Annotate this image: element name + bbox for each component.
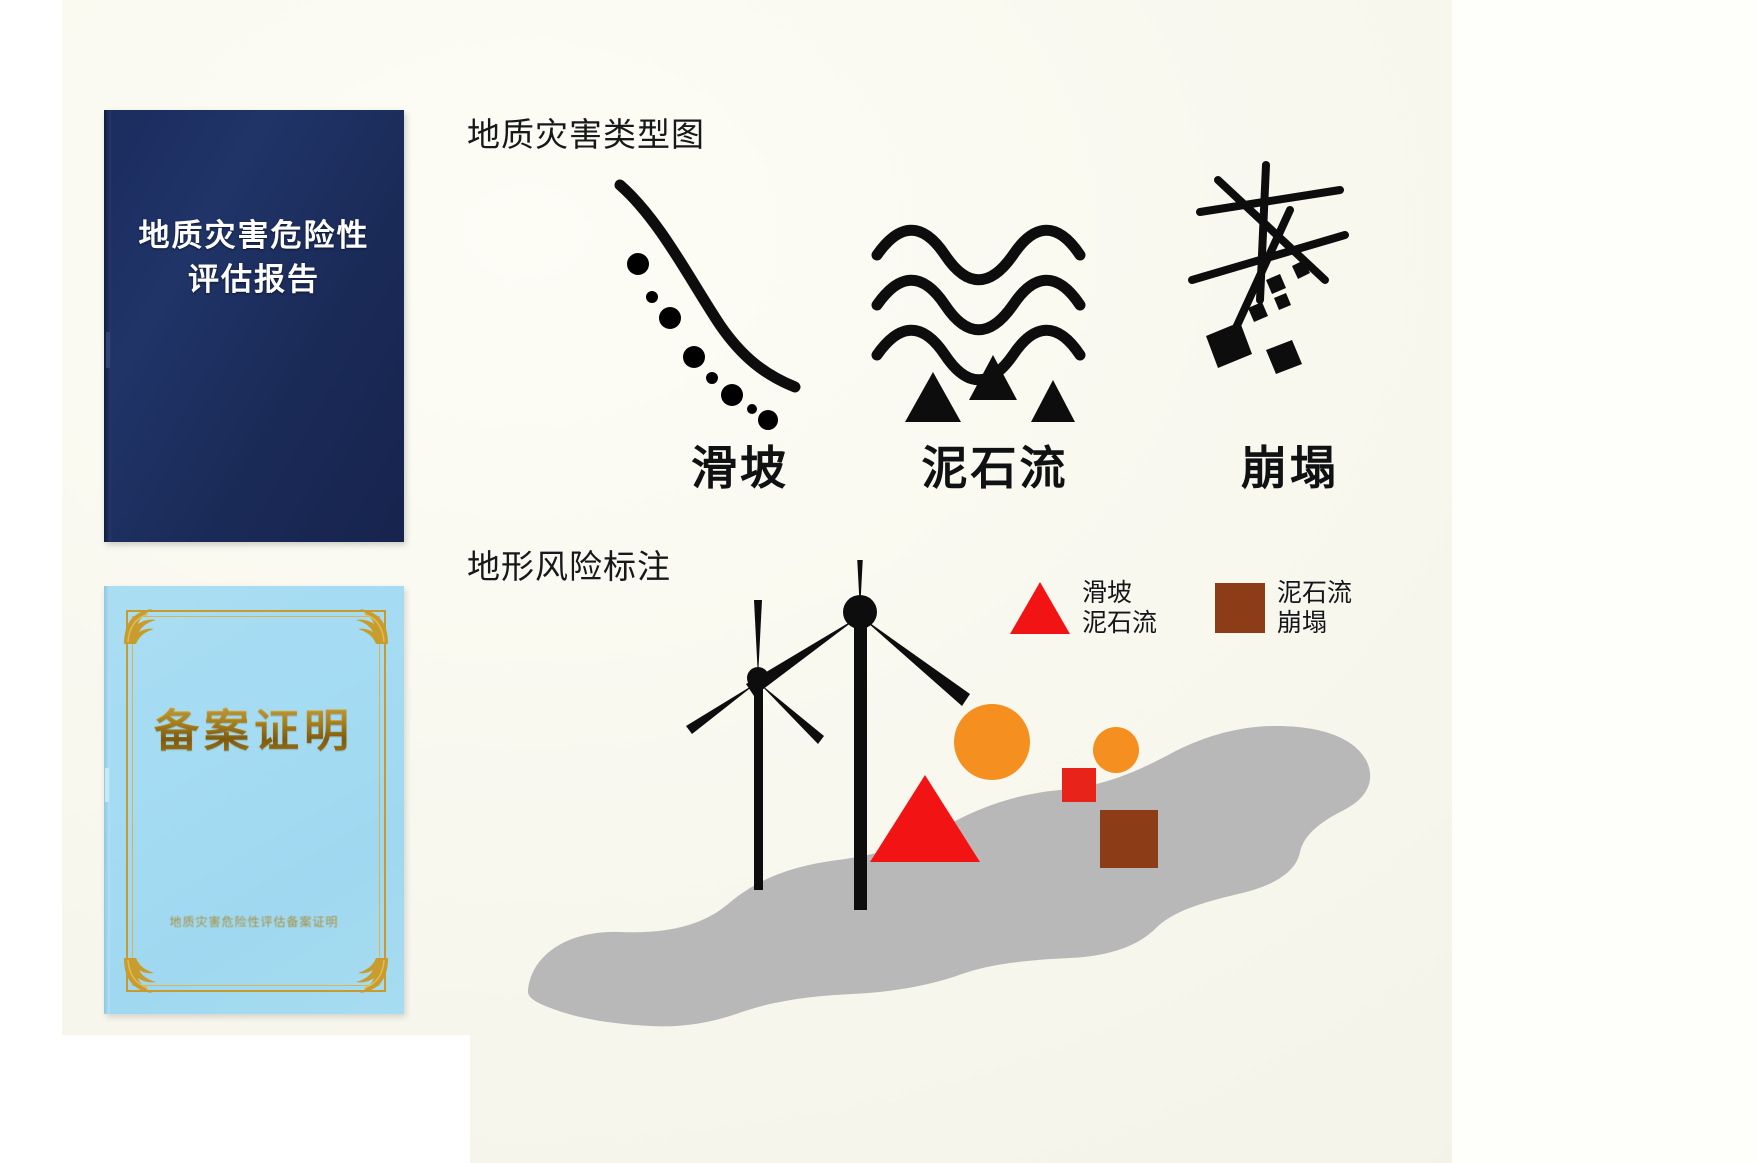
hazard-label-collapse: 崩塌 bbox=[1140, 432, 1440, 498]
report-cover-title: 地质灾害危险性 评估报告 bbox=[104, 214, 404, 302]
risk-circle-orange-small bbox=[1093, 727, 1139, 773]
geological-hazard-report-cover[interactable]: 地质灾害危险性 评估报告 bbox=[104, 110, 404, 542]
bottom-left-white-margin bbox=[0, 1035, 470, 1163]
hazard-label-debris-flow: 泥石流 bbox=[845, 432, 1145, 498]
hazard-type-debris-flow[interactable]: 泥石流 bbox=[845, 160, 1145, 500]
debris-flow-waves-triangles-icon bbox=[845, 160, 1145, 430]
corner-flourish-icon bbox=[122, 956, 166, 996]
report-title-line-2: 评估报告 bbox=[104, 258, 404, 302]
report-title-line-1: 地质灾害危险性 bbox=[139, 218, 370, 253]
risk-square-brown-large bbox=[1100, 810, 1158, 868]
certificate-spine-notch bbox=[105, 768, 109, 802]
collapse-starburst-blocks-icon bbox=[1140, 150, 1440, 420]
risk-circle-orange-large bbox=[954, 704, 1030, 780]
left-white-margin bbox=[0, 0, 62, 1163]
right-white-margin bbox=[1452, 0, 1756, 1163]
certificate-gold-frame-inner bbox=[132, 616, 380, 986]
hazard-type-collapse[interactable]: 崩塌 bbox=[1140, 150, 1440, 490]
corner-flourish-icon bbox=[346, 606, 390, 646]
risk-square-red-small bbox=[1062, 768, 1096, 802]
filing-certificate-cover[interactable]: 备案证明 地质灾害危险性评估备案证明 bbox=[104, 586, 404, 1014]
report-spine-notch bbox=[106, 332, 110, 368]
certificate-title: 备案证明 bbox=[104, 694, 404, 759]
report-spine bbox=[104, 110, 111, 542]
wind-turbine-small bbox=[686, 600, 824, 890]
corner-flourish-icon bbox=[346, 956, 390, 996]
hazard-types-heading: 地质灾害类型图 bbox=[467, 108, 705, 156]
terrain-risk-map[interactable] bbox=[470, 560, 1450, 1060]
certificate-subtitle: 地质灾害危险性评估备案证明 bbox=[104, 913, 404, 930]
corner-flourish-icon bbox=[122, 606, 166, 646]
terrain-landmass-shape bbox=[528, 726, 1370, 1026]
